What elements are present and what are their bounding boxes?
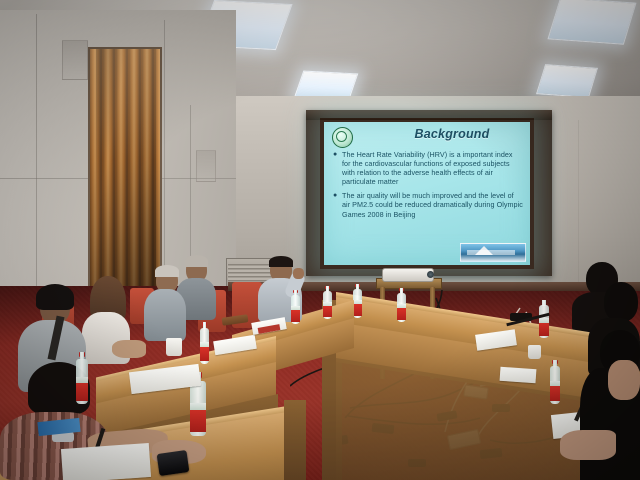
- water-bottle[interactable]: [198, 322, 211, 364]
- person-hair-gray: [185, 255, 208, 267]
- slide-title: Background: [382, 127, 522, 141]
- water-bottle[interactable]: [396, 288, 407, 322]
- person-hair: [36, 284, 74, 310]
- institutional-seal-icon: [332, 127, 353, 148]
- slide-bullet: ● The Heart Rate Variability (HRV) is a …: [333, 150, 523, 186]
- bullet-dot: ●: [333, 191, 338, 218]
- slide-thumbnail-image: [460, 243, 526, 262]
- person-hand: [560, 430, 616, 460]
- bottle-label: [76, 383, 88, 401]
- thumbnail-caption-bar: [467, 250, 515, 255]
- conference-room-photo: Background ● The Heart Rate Variability …: [0, 0, 640, 480]
- person-body: [144, 289, 186, 341]
- water-bottle[interactable]: [538, 300, 550, 338]
- wall-recess: [62, 40, 88, 80]
- wall-recess: [196, 150, 216, 182]
- slide-bullet: ● The air quality will be much improved …: [333, 191, 523, 218]
- wall-seam: [578, 120, 579, 285]
- slide-bullet-text: The air quality will be much improved an…: [342, 191, 523, 218]
- bottle-label: [291, 310, 299, 322]
- document-paper: [61, 443, 151, 480]
- bottle-label-band: [190, 403, 205, 411]
- bottle-label: [190, 410, 205, 432]
- table-side-edge: [284, 400, 306, 480]
- presenter-hair: [269, 256, 293, 267]
- bullet-dot: ●: [333, 150, 338, 186]
- water-bottle[interactable]: [290, 290, 301, 324]
- person-arm: [112, 340, 146, 358]
- slide-bullet-text: The Heart Rate Variability (HRV) is a im…: [342, 150, 523, 186]
- projector-lens-icon: [427, 271, 434, 278]
- ceiling-light-panel: [536, 64, 598, 98]
- curtain-shading: [90, 49, 160, 296]
- mobile-phone[interactable]: [157, 450, 190, 476]
- projection-screen-housing: [306, 110, 552, 120]
- person-head: [604, 282, 638, 322]
- bottle-label: [200, 347, 210, 361]
- slide-body: ● The Heart Rate Variability (HRV) is a …: [333, 150, 523, 224]
- paper-cup[interactable]: [528, 345, 541, 359]
- wall-seam: [36, 14, 37, 304]
- paper-cup[interactable]: [166, 338, 182, 356]
- water-bottle[interactable]: [74, 352, 90, 404]
- water-bottle[interactable]: [548, 360, 562, 404]
- bottle-label: [397, 308, 405, 320]
- water-bottle[interactable]: [322, 286, 333, 319]
- projected-slide: Background ● The Heart Rate Variability …: [324, 122, 530, 265]
- wall-seam: [164, 20, 165, 295]
- bottle-label: [539, 323, 548, 336]
- bottle-label: [550, 386, 561, 401]
- person-hair-gray: [155, 265, 179, 277]
- ceiling-light-panel: [547, 0, 636, 45]
- bottle-label: [353, 304, 361, 316]
- presenter-hand: [293, 268, 304, 279]
- bottle-label: [323, 306, 331, 317]
- person-arm: [608, 360, 640, 400]
- document-paper: [500, 367, 537, 383]
